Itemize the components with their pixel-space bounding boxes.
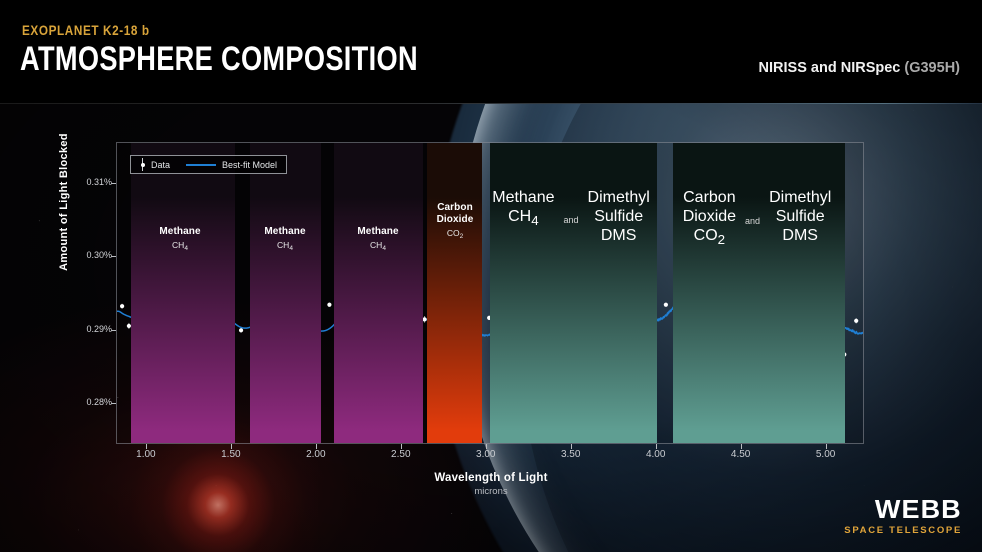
x-axis-tick-label: 2.00 xyxy=(286,449,346,460)
annotation-right: DimethylSulfideDMS xyxy=(769,189,831,246)
webb-tagline: SPACE TELESCOPE xyxy=(844,525,962,536)
x-axis-tick-mark xyxy=(486,444,487,449)
annotation-conjunction: and xyxy=(745,210,760,226)
data-point xyxy=(120,304,124,308)
y-axis-title: Amount of Light Blocked xyxy=(58,82,70,322)
header-bar: EXOPLANET K2-18 b ATMOSPHERE COMPOSITION… xyxy=(0,0,982,104)
webb-logo: WEBB SPACE TELESCOPE xyxy=(844,496,962,536)
y-axis-tick-mark xyxy=(111,256,116,257)
annotation-pair: CarbonDioxideCO2andDimethylSulfideDMS xyxy=(677,189,837,248)
y-axis-tick-mark xyxy=(111,183,116,184)
line-swatch-icon xyxy=(186,164,216,166)
x-axis-tick-label: 1.00 xyxy=(116,449,176,460)
legend-item-model: Best-fit Model xyxy=(186,160,277,170)
band-methane-band-2 xyxy=(250,143,321,443)
annotation-name: DimethylSulfide xyxy=(588,189,650,227)
x-axis-tick-label: 5.00 xyxy=(796,449,856,460)
annotation-name: CarbonDioxide xyxy=(405,202,505,226)
annotation-methane: MethaneCH4 xyxy=(235,226,335,250)
legend-label-model: Best-fit Model xyxy=(222,160,277,170)
x-axis-tick-label: 2.50 xyxy=(371,449,431,460)
eyebrow-subtitle: EXOPLANET K2-18 b xyxy=(22,22,150,38)
data-point xyxy=(854,319,858,323)
band-methane-band-3 xyxy=(334,143,423,443)
data-point xyxy=(239,328,243,332)
annotation-formula: CH4 xyxy=(130,240,230,251)
x-axis-tick-mark xyxy=(231,444,232,449)
x-axis-tick-mark xyxy=(316,444,317,449)
x-axis-title-block: Wavelength of Light microns xyxy=(0,472,982,497)
annotation-carbon-dioxide: CarbonDioxideCO2 xyxy=(405,202,505,238)
x-axis-tick-mark xyxy=(826,444,827,449)
y-axis-tick-mark xyxy=(111,330,116,331)
data-point xyxy=(664,303,668,307)
annotation-formula: DMS xyxy=(769,227,831,246)
instrument-label: NIRISS and NIRSpec (G395H) xyxy=(759,60,960,76)
legend-label-data: Data xyxy=(151,160,170,170)
x-axis-tick-label: 3.00 xyxy=(456,449,516,460)
band-ch4-dms-band xyxy=(490,143,657,443)
annotation-formula: DMS xyxy=(588,227,650,246)
annotation-right: DimethylSulfideDMS xyxy=(588,189,650,246)
annotation-pair: MethaneCH4andDimethylSulfideDMS xyxy=(491,189,651,246)
band-methane-band-1 xyxy=(131,143,235,443)
x-axis-tick-label: 4.50 xyxy=(711,449,771,460)
annotation-formula: CO2 xyxy=(405,228,505,239)
annotation-formula: CH4 xyxy=(492,208,554,229)
annotation-name: Methane xyxy=(492,189,554,208)
page-title: ATMOSPHERE COMPOSITION xyxy=(20,40,418,79)
legend-item-data: Data xyxy=(140,158,170,171)
header-divider xyxy=(0,103,982,104)
y-axis-tick-label: 0.29% xyxy=(52,324,112,334)
x-axis-tick-mark xyxy=(571,444,572,449)
x-axis-tick-mark xyxy=(741,444,742,449)
x-axis-tick-mark xyxy=(401,444,402,449)
annotation-formula: CO2 xyxy=(683,227,736,248)
annotation-left: MethaneCH4 xyxy=(492,189,554,229)
annotation-conjunction: and xyxy=(564,209,579,225)
band-carbon-dioxide-band xyxy=(427,143,482,443)
y-axis-tick-mark xyxy=(111,403,116,404)
band-co2-dms-band xyxy=(673,143,845,443)
errorbar-point-icon xyxy=(140,158,145,171)
annotation-name: DimethylSulfide xyxy=(769,189,831,227)
x-axis-units: microns xyxy=(0,486,982,497)
instrument-grating: (G395H) xyxy=(904,60,960,76)
annotation-name: Methane xyxy=(130,226,230,238)
x-axis-tick-label: 4.00 xyxy=(626,449,686,460)
chart-legend: Data Best-fit Model xyxy=(130,155,287,174)
annotation-formula: CH4 xyxy=(328,240,428,251)
spectrum-plot: Data Best-fit Model MethaneCH4MethaneCH4… xyxy=(116,142,864,444)
x-axis-tick-mark xyxy=(656,444,657,449)
annotation-left: CarbonDioxideCO2 xyxy=(683,189,736,248)
data-point xyxy=(327,303,331,307)
annotation-formula: CH4 xyxy=(235,240,335,251)
x-axis-tick-mark xyxy=(146,444,147,449)
x-axis-tick-label: 1.50 xyxy=(201,449,261,460)
instrument-names: NIRISS and NIRSpec xyxy=(759,60,901,76)
annotation-methane: MethaneCH4 xyxy=(130,226,230,250)
x-axis-tick-label: 3.50 xyxy=(541,449,601,460)
y-axis-tick-label: 0.28% xyxy=(52,397,112,407)
x-axis-title: Wavelength of Light xyxy=(0,472,982,484)
annotation-name: Methane xyxy=(235,226,335,238)
annotation-name: CarbonDioxide xyxy=(683,189,736,227)
webb-wordmark: WEBB xyxy=(840,496,962,522)
